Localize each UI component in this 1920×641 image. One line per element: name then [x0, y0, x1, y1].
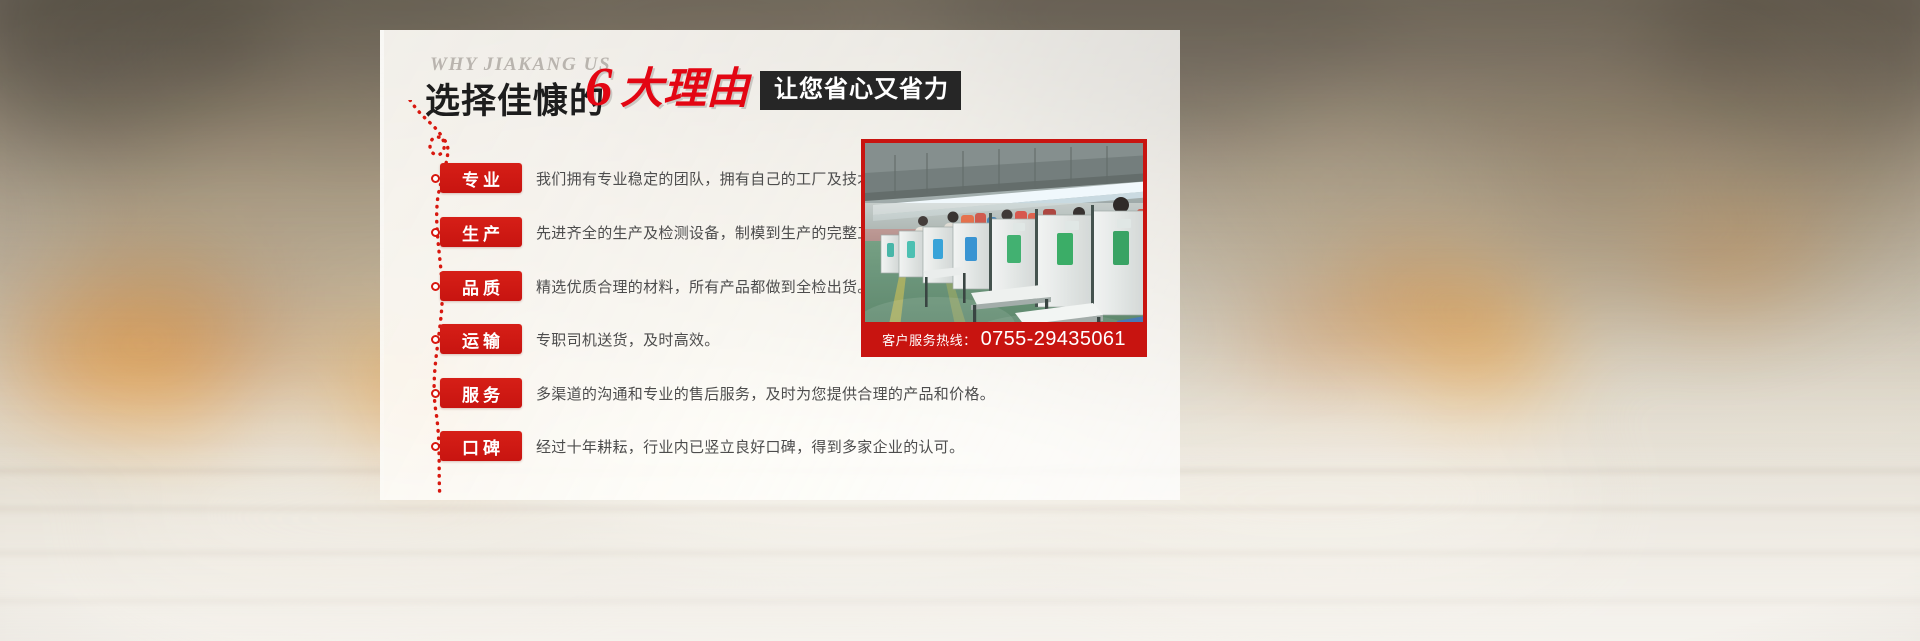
reason-description: 我们拥有专业稳定的团队，拥有自己的工厂及技术。 [536, 168, 888, 189]
reason-badge: 运输 [440, 324, 522, 354]
bullet-node-icon [431, 389, 440, 398]
bullet-node-icon [431, 228, 440, 237]
reason-badge: 生产 [440, 217, 522, 247]
title-number: 6 [585, 59, 613, 114]
reason-badge: 品质 [440, 271, 522, 301]
title-red-text: 大理由 [620, 68, 749, 111]
title-cn-prefix: 选择佳慷的 [425, 73, 605, 124]
reason-description: 先进齐全的生产及检测设备，制模到生产的完整工艺。 [536, 222, 903, 243]
reason-badge: 服务 [440, 378, 522, 408]
bullet-node-icon [431, 282, 440, 291]
hotline-banner: 客户服务热线： 0755-29435061 [861, 322, 1147, 357]
reason-description: 专职司机送货，及时高效。 [536, 329, 720, 350]
reason-badge: 口碑 [440, 431, 522, 461]
reason-badge: 专业 [440, 163, 522, 193]
reason-description: 精选优质合理的材料，所有产品都做到全检出货。 [536, 276, 873, 297]
bullet-node-icon [431, 442, 440, 451]
reason-description: 经过十年耕耘，行业内已竖立良好口碑，得到多家企业的认可。 [536, 436, 964, 457]
title-ribbon: 让您省心又省力 [760, 71, 961, 110]
bullet-node-icon [431, 174, 440, 183]
panel-left-edge [380, 30, 384, 500]
reason-description: 多渠道的沟通和专业的售后服务，及时为您提供合理的产品和价格。 [536, 383, 995, 404]
hotline-number: 0755-29435061 [981, 328, 1126, 351]
bullet-node-icon [431, 335, 440, 344]
hotline-label: 客户服务热线： [882, 330, 977, 349]
